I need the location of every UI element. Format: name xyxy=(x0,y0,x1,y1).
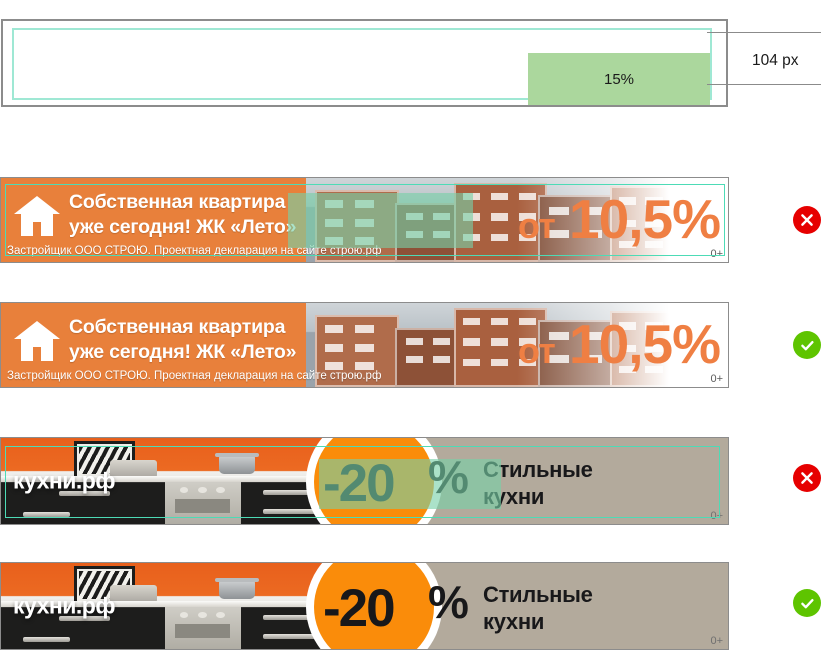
oven xyxy=(165,607,241,649)
headline-line-2: уже сегодня! ЖК «Лето» xyxy=(69,215,296,240)
headline-line-1: Стильные xyxy=(483,456,593,483)
realty-creative: Собственная квартира уже сегодня! ЖК «Ле… xyxy=(1,178,728,262)
highlight-percent-label: 15% xyxy=(604,71,634,88)
banner-headline: Стильные кухни xyxy=(483,581,593,635)
kitchen-creative: кухни.рф -20 % Стильные кухни 0+ xyxy=(1,563,728,649)
headline-line-2: кухни xyxy=(483,483,593,510)
cabinet-handle xyxy=(263,509,318,514)
cross-icon[interactable] xyxy=(793,464,821,492)
measurement-diagram: 15% xyxy=(1,19,728,107)
house-icon xyxy=(13,319,61,363)
age-rating-label: 0+ xyxy=(710,373,723,385)
cabinet-handle xyxy=(23,512,70,517)
legal-disclaimer: Застройщик ООО СТРОЮ. Проектная декларац… xyxy=(7,369,381,383)
age-rating-label: 0+ xyxy=(710,510,723,522)
pot xyxy=(219,455,255,474)
cross-icon[interactable] xyxy=(793,206,821,234)
pot xyxy=(219,580,255,599)
facade-block xyxy=(395,203,462,262)
brand-logo: кухни.рф xyxy=(13,468,115,495)
discount-percent-symbol: % xyxy=(428,577,467,627)
banner-row-kitchen-approved: кухни.рф -20 % Стильные кухни 0+ xyxy=(0,562,821,650)
rate-value: 10,5% xyxy=(569,188,720,250)
house-icon xyxy=(13,194,61,238)
banner-row-realty-approved: Собственная квартира уже сегодня! ЖК «Ле… xyxy=(0,302,821,388)
banner-preview[interactable]: Собственная квартира уже сегодня! ЖК «Ле… xyxy=(0,177,729,263)
headline-line-2: уже сегодня! ЖК «Лето» xyxy=(69,340,296,365)
legal-disclaimer: Застройщик ООО СТРОЮ. Проектная декларац… xyxy=(7,244,381,258)
realty-creative: Собственная квартира уже сегодня! ЖК «Ле… xyxy=(1,303,728,387)
banner-headline: Стильные кухни xyxy=(483,456,593,510)
banner-headline: Собственная квартира уже сегодня! ЖК «Ле… xyxy=(69,315,296,365)
discount-number: -20 xyxy=(323,456,394,512)
rate-value: 10,5% xyxy=(569,313,720,375)
banner-row-realty-rejected: Собственная квартира уже сегодня! ЖК «Ле… xyxy=(0,177,821,263)
banner-preview[interactable]: Собственная квартира уже сегодня! ЖК «Ле… xyxy=(0,302,729,388)
rate-text: от 10,5% xyxy=(518,311,720,384)
pot-lid xyxy=(215,578,259,582)
headline-line-1: Собственная квартира xyxy=(69,315,296,340)
rate-prefix: от xyxy=(518,330,555,371)
text-highlight-icon: 15% xyxy=(528,53,710,105)
rate-text: от 10,5% xyxy=(518,186,720,259)
cabinet-handle xyxy=(263,634,318,639)
pot-lid xyxy=(215,453,259,457)
cabinet-handle xyxy=(23,637,70,642)
pixel-measurement-label: 104 px xyxy=(752,52,799,70)
age-rating-label: 0+ xyxy=(710,248,723,260)
banner-row-kitchen-rejected: кухни.рф -20 % Стильные кухни 0+ xyxy=(0,437,821,525)
banner-headline: Собственная квартира уже сегодня! ЖК «Ле… xyxy=(69,190,296,240)
headline-line-2: кухни xyxy=(483,608,593,635)
oven xyxy=(165,482,241,524)
headline-line-1: Собственная квартира xyxy=(69,190,296,215)
discount-number: -20 xyxy=(323,581,394,637)
banner-preview[interactable]: кухни.рф -20 % Стильные кухни 0+ xyxy=(0,437,729,525)
leader-line-top xyxy=(707,32,821,33)
rate-prefix: от xyxy=(518,205,555,246)
leader-line-bottom xyxy=(707,84,821,85)
brand-logo: кухни.рф xyxy=(13,593,115,620)
discount-percent-symbol: % xyxy=(428,452,467,502)
check-icon[interactable] xyxy=(793,589,821,617)
age-rating-label: 0+ xyxy=(710,635,723,647)
screenshot-root: 15% 104 px xyxy=(0,0,821,671)
headline-line-1: Стильные xyxy=(483,581,593,608)
facade-block xyxy=(395,328,462,387)
check-icon[interactable] xyxy=(793,331,821,359)
kitchen-creative: кухни.рф -20 % Стильные кухни 0+ xyxy=(1,438,728,524)
banner-preview[interactable]: кухни.рф -20 % Стильные кухни 0+ xyxy=(0,562,729,650)
